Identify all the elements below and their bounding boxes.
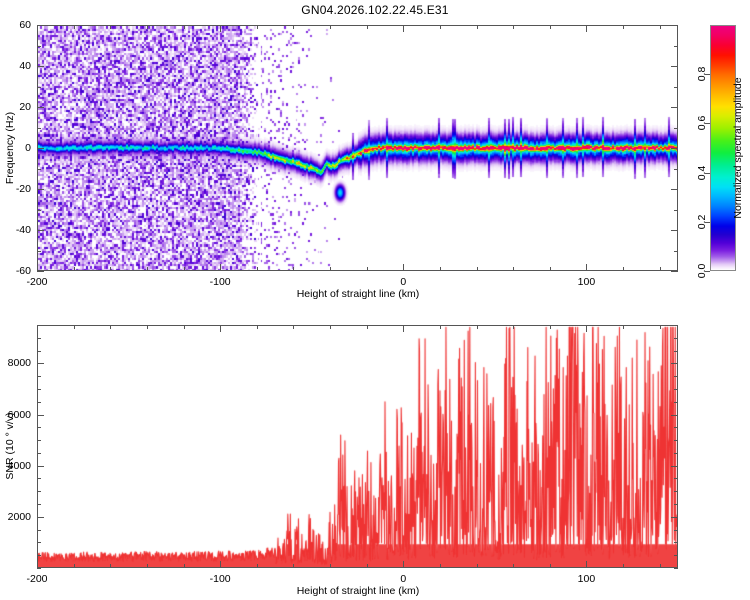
y-tick-minor [37, 251, 41, 252]
y-tick-label: -40 [16, 224, 31, 236]
snr-yaxis-label: SNR (10 ° v/v) [4, 412, 16, 479]
x-tick-label: -200 [26, 573, 47, 585]
y-tick-minor [37, 169, 41, 170]
y-tick-major [671, 107, 678, 108]
y-tick-minor [37, 427, 41, 428]
y-tick-major [37, 517, 44, 518]
x-tick-major [37, 264, 38, 271]
y-tick-major [37, 363, 44, 364]
y-tick-major [37, 107, 44, 108]
x-tick-major [403, 561, 404, 568]
colorbar-tick-label: 0.2 [696, 214, 708, 229]
x-tick-minor [74, 564, 75, 568]
x-tick-minor [513, 564, 514, 568]
y-tick-minor [674, 555, 678, 556]
y-tick-major [671, 466, 678, 467]
x-tick-minor [477, 25, 478, 29]
x-tick-major [586, 561, 587, 568]
y-tick-label: 40 [19, 60, 31, 72]
x-tick-label: 0 [400, 573, 406, 585]
y-tick-minor [674, 338, 678, 339]
x-tick-minor [147, 564, 148, 568]
x-tick-minor [330, 25, 331, 29]
x-tick-major [220, 25, 221, 32]
x-tick-minor [513, 267, 514, 271]
y-tick-minor [37, 210, 41, 211]
x-tick-minor [477, 564, 478, 568]
colorbar-tick-label: 0.0 [696, 264, 708, 279]
spectrogram-plot-area [38, 26, 677, 270]
x-tick-minor [550, 564, 551, 568]
x-tick-major [586, 25, 587, 32]
x-tick-major [586, 264, 587, 271]
x-tick-label: -100 [210, 276, 231, 288]
x-tick-minor [660, 325, 661, 329]
x-tick-minor [147, 267, 148, 271]
x-tick-label: 0 [400, 276, 406, 288]
y-tick-major [37, 148, 44, 149]
y-tick-major [37, 466, 44, 467]
x-tick-minor [293, 564, 294, 568]
y-tick-minor [37, 338, 41, 339]
x-tick-minor [110, 267, 111, 271]
x-tick-major [403, 264, 404, 271]
y-tick-major [671, 517, 678, 518]
x-tick-minor [440, 25, 441, 29]
x-tick-label: -100 [210, 573, 231, 585]
x-tick-minor [330, 564, 331, 568]
x-tick-minor [110, 325, 111, 329]
y-tick-label: -60 [16, 265, 31, 277]
y-tick-minor [37, 128, 41, 129]
x-tick-minor [257, 267, 258, 271]
x-tick-major [586, 325, 587, 332]
y-tick-major [37, 25, 44, 26]
x-tick-major [220, 325, 221, 332]
y-tick-minor [674, 530, 678, 531]
colorbar-tick-label: 0.8 [696, 67, 708, 82]
y-tick-minor [37, 491, 41, 492]
x-tick-minor [440, 267, 441, 271]
x-tick-minor [623, 267, 624, 271]
y-tick-minor [674, 542, 678, 543]
x-tick-minor [660, 25, 661, 29]
snr-line-series [38, 326, 677, 567]
page-title: GN04.2026.102.22.45.E31 [0, 3, 750, 17]
y-tick-minor [674, 453, 678, 454]
x-tick-minor [367, 325, 368, 329]
y-tick-major [671, 148, 678, 149]
x-tick-minor [660, 564, 661, 568]
x-tick-minor [110, 564, 111, 568]
y-tick-minor [674, 491, 678, 492]
y-tick-minor [674, 46, 678, 47]
y-tick-major [37, 189, 44, 190]
y-tick-minor [674, 87, 678, 88]
x-tick-minor [147, 25, 148, 29]
y-tick-minor [674, 128, 678, 129]
y-tick-minor [37, 402, 41, 403]
spectrogram-panel [37, 25, 678, 271]
x-tick-label: -200 [26, 276, 47, 288]
y-tick-major [671, 271, 678, 272]
y-tick-minor [674, 389, 678, 390]
y-tick-label: 60 [19, 19, 31, 31]
y-tick-minor [674, 325, 678, 326]
y-tick-minor [37, 351, 41, 352]
x-tick-minor [367, 267, 368, 271]
spectrogram-image [38, 26, 677, 270]
y-tick-label: 2000 [8, 511, 31, 523]
spectrogram-yaxis-label: Frequency (Hz) [4, 112, 16, 184]
y-tick-minor [674, 251, 678, 252]
x-tick-major [220, 561, 221, 568]
y-tick-minor [37, 376, 41, 377]
colorbar-tick-label: 0.4 [696, 165, 708, 180]
x-tick-minor [623, 564, 624, 568]
x-tick-minor [513, 25, 514, 29]
y-tick-major [37, 66, 44, 67]
y-tick-major [671, 25, 678, 26]
x-tick-minor [660, 267, 661, 271]
x-tick-minor [110, 25, 111, 29]
x-tick-major [37, 561, 38, 568]
y-tick-major [671, 189, 678, 190]
y-tick-minor [37, 530, 41, 531]
x-tick-minor [293, 325, 294, 329]
y-tick-major [37, 230, 44, 231]
y-tick-major [37, 271, 44, 272]
x-tick-minor [330, 325, 331, 329]
y-tick-minor [674, 402, 678, 403]
y-tick-minor [37, 542, 41, 543]
x-tick-minor [184, 325, 185, 329]
y-tick-minor [37, 325, 41, 326]
x-tick-minor [623, 325, 624, 329]
spectrogram-xaxis-label: Height of straight line (km) [297, 288, 420, 300]
x-tick-minor [477, 267, 478, 271]
y-tick-minor [674, 568, 678, 569]
x-tick-minor [257, 325, 258, 329]
x-tick-minor [184, 564, 185, 568]
y-tick-major [671, 415, 678, 416]
y-tick-major [37, 415, 44, 416]
x-tick-minor [550, 267, 551, 271]
y-tick-minor [37, 87, 41, 88]
x-tick-minor [74, 267, 75, 271]
colorbar-label: Normalized spectral amplitude [732, 77, 744, 218]
y-tick-minor [37, 555, 41, 556]
y-tick-minor [37, 440, 41, 441]
figure-root: GN04.2026.102.22.45.E31 -200-1000100-60-… [0, 0, 750, 600]
x-tick-minor [184, 25, 185, 29]
y-tick-minor [674, 478, 678, 479]
y-tick-major [671, 363, 678, 364]
x-tick-minor [367, 564, 368, 568]
x-tick-minor [293, 25, 294, 29]
y-tick-minor [37, 46, 41, 47]
y-tick-major [671, 230, 678, 231]
y-tick-minor [37, 453, 41, 454]
y-tick-minor [37, 568, 41, 569]
y-tick-minor [674, 504, 678, 505]
x-tick-minor [440, 325, 441, 329]
x-tick-minor [74, 325, 75, 329]
x-tick-minor [257, 564, 258, 568]
y-tick-minor [674, 440, 678, 441]
snr-plot-area [38, 326, 677, 567]
y-tick-label: 20 [19, 101, 31, 113]
y-tick-minor [37, 389, 41, 390]
x-tick-major [37, 25, 38, 32]
x-tick-label: 100 [578, 276, 596, 288]
x-tick-minor [367, 25, 368, 29]
y-tick-label: 0 [25, 142, 31, 154]
snr-panel [37, 325, 678, 568]
x-tick-minor [293, 267, 294, 271]
x-tick-minor [477, 325, 478, 329]
x-tick-minor [550, 325, 551, 329]
y-tick-minor [37, 504, 41, 505]
colorbar-tick-label: 0.6 [696, 116, 708, 131]
x-tick-minor [147, 325, 148, 329]
x-tick-minor [513, 325, 514, 329]
x-tick-major [37, 325, 38, 332]
x-tick-minor [550, 25, 551, 29]
x-tick-major [220, 264, 221, 271]
y-tick-major [671, 66, 678, 67]
y-tick-minor [674, 427, 678, 428]
x-tick-label: 100 [578, 573, 596, 585]
x-tick-minor [330, 267, 331, 271]
y-tick-label: -20 [16, 183, 31, 195]
y-tick-minor [37, 478, 41, 479]
y-tick-minor [674, 351, 678, 352]
x-tick-minor [184, 267, 185, 271]
y-tick-minor [674, 169, 678, 170]
x-tick-minor [623, 25, 624, 29]
y-tick-minor [674, 376, 678, 377]
y-tick-minor [674, 210, 678, 211]
x-tick-minor [440, 564, 441, 568]
x-tick-major [403, 25, 404, 32]
x-tick-minor [74, 25, 75, 29]
y-tick-label: 8000 [8, 357, 31, 369]
x-tick-major [403, 325, 404, 332]
x-tick-minor [257, 25, 258, 29]
snr-xaxis-label: Height of straight line (km) [297, 585, 420, 597]
